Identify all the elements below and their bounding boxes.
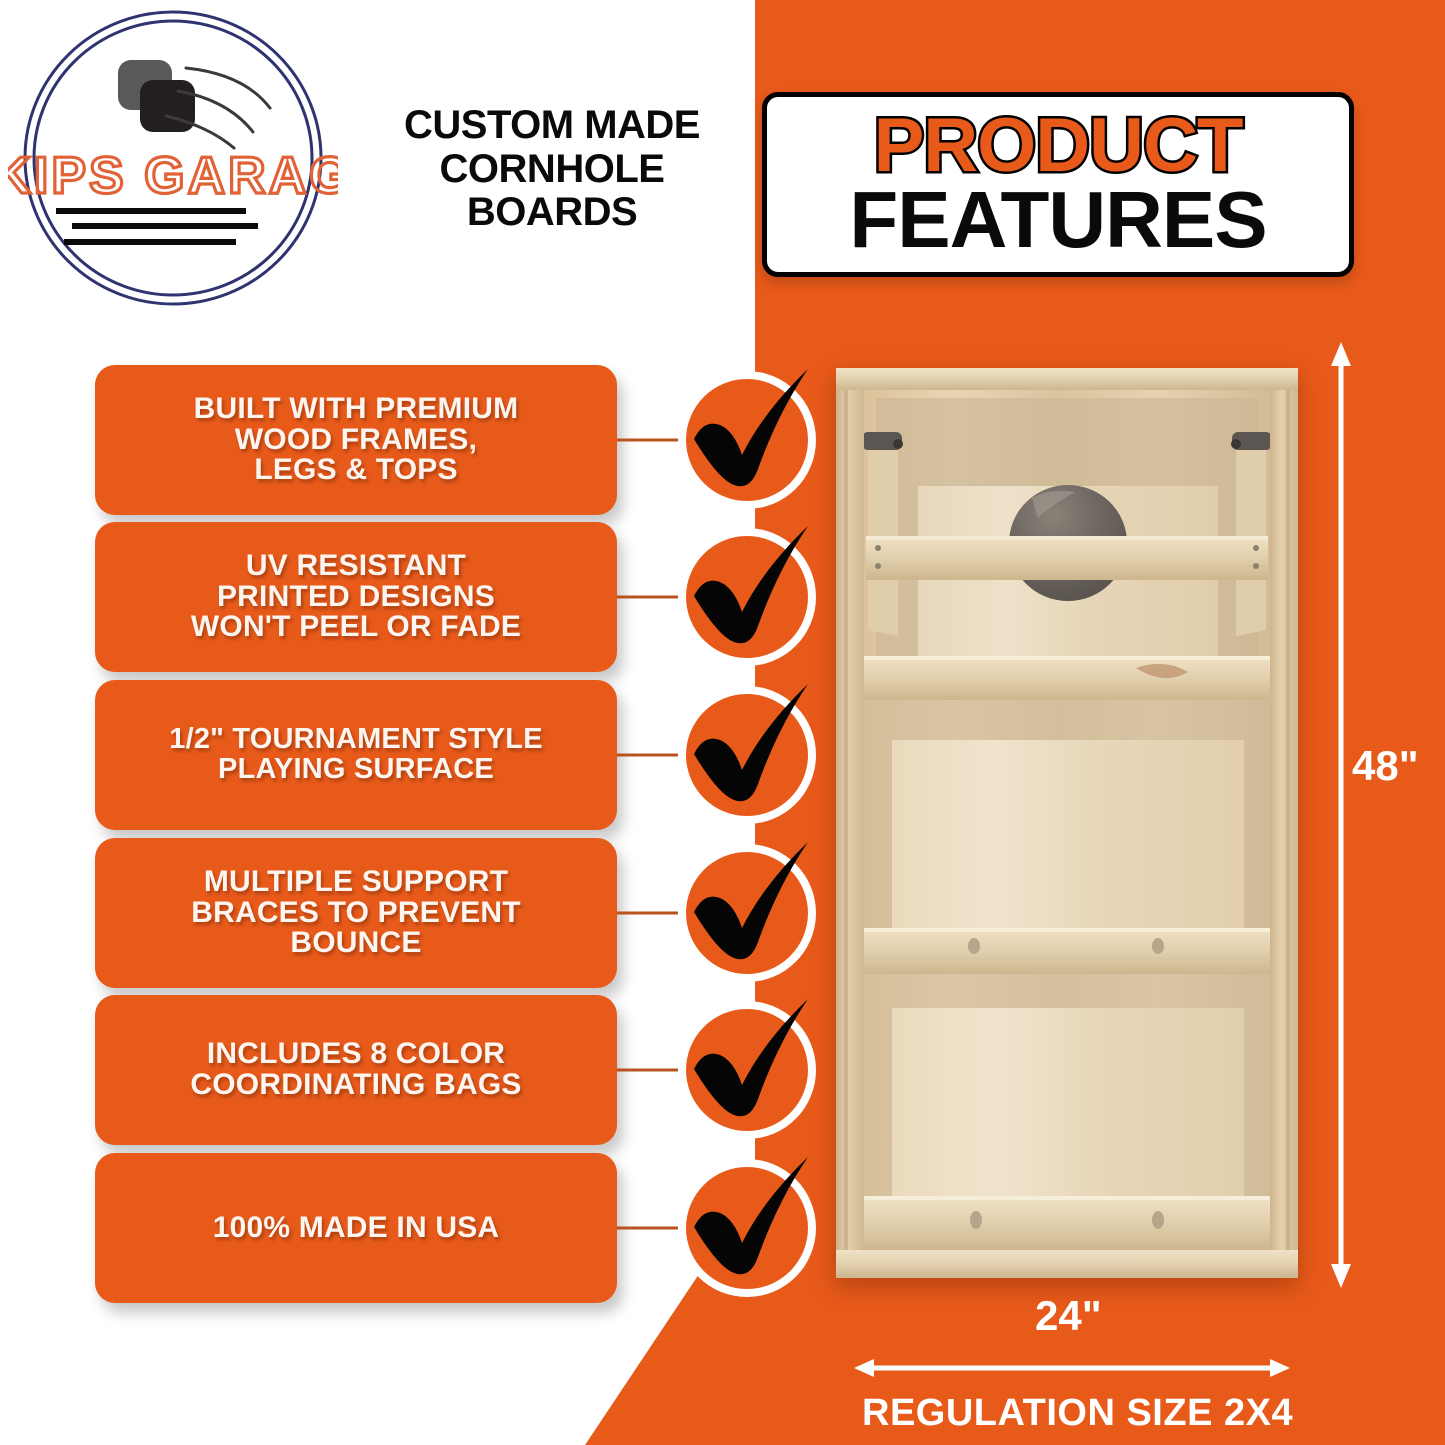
page-title: CUSTOM MADE CORNHOLE BOARDS bbox=[352, 104, 752, 235]
feature-row-uv-resistant: UV RESISTANTPRINTED DESIGNSWON'T PEEL OR… bbox=[0, 522, 830, 672]
feature-pill-made-in-usa[interactable]: 100% MADE IN USA bbox=[95, 1153, 617, 1303]
feature-text-line: WOOD FRAMES, bbox=[194, 425, 519, 456]
feature-text-line: BRACES TO PREVENT bbox=[191, 898, 521, 929]
check-icon bbox=[672, 995, 822, 1145]
feature-pill-uv-resistant[interactable]: UV RESISTANTPRINTED DESIGNSWON'T PEEL OR… bbox=[95, 522, 617, 672]
check-icon bbox=[672, 522, 822, 672]
width-label: 24" bbox=[1035, 1292, 1102, 1340]
feature-text-line: BUILT WITH PREMIUM bbox=[194, 394, 519, 425]
feature-text-line: 100% MADE IN USA bbox=[213, 1213, 500, 1244]
headline-line: CUSTOM MADE bbox=[352, 104, 752, 148]
feature-pill-included-bags[interactable]: INCLUDES 8 COLORCOORDINATING BAGS bbox=[95, 995, 617, 1145]
check-icon bbox=[672, 1153, 822, 1303]
feature-label-included-bags: INCLUDES 8 COLORCOORDINATING BAGS bbox=[190, 1039, 521, 1100]
feature-pill-playing-surface[interactable]: 1/2" TOURNAMENT STYLEPLAYING SURFACE bbox=[95, 680, 617, 830]
feature-text-line: MULTIPLE SUPPORT bbox=[191, 867, 521, 898]
dimension-arrow-width bbox=[852, 1355, 1292, 1381]
product-photo bbox=[836, 368, 1298, 1278]
feature-label-premium-wood: BUILT WITH PREMIUMWOOD FRAMES,LEGS & TOP… bbox=[194, 394, 519, 486]
banner-word-features: FEATURES bbox=[849, 182, 1266, 258]
feature-row-made-in-usa: 100% MADE IN USA bbox=[0, 1153, 830, 1303]
brand-logo: SKIPS GARAGE bbox=[8, 8, 338, 308]
frame-rail-middle bbox=[864, 656, 1270, 700]
headline-line: BOARDS bbox=[352, 191, 752, 235]
support-brace-upper bbox=[866, 536, 1268, 580]
folding-leg-right bbox=[1231, 432, 1272, 636]
product-features-banner: PRODUCT FEATURES bbox=[762, 92, 1354, 277]
height-label: 48" bbox=[1352, 742, 1419, 790]
feature-row-included-bags: INCLUDES 8 COLORCOORDINATING BAGS bbox=[0, 995, 830, 1145]
check-icon bbox=[672, 365, 822, 515]
feature-pill-support-braces[interactable]: MULTIPLE SUPPORTBRACES TO PREVENTBOUNCE bbox=[95, 838, 617, 988]
feature-pill-premium-wood[interactable]: BUILT WITH PREMIUMWOOD FRAMES,LEGS & TOP… bbox=[95, 365, 617, 515]
feature-text-line: INCLUDES 8 COLOR bbox=[190, 1039, 521, 1070]
feature-text-line: COORDINATING BAGS bbox=[190, 1070, 521, 1101]
regulation-size-note: REGULATION SIZE 2X4 bbox=[862, 1392, 1293, 1435]
feature-text-line: 1/2" TOURNAMENT STYLE bbox=[169, 725, 543, 755]
feature-text-line: LEGS & TOPS bbox=[194, 455, 519, 486]
feature-text-line: UV RESISTANT bbox=[191, 551, 521, 582]
feature-row-premium-wood: BUILT WITH PREMIUMWOOD FRAMES,LEGS & TOP… bbox=[0, 365, 830, 515]
feature-text-line: BOUNCE bbox=[191, 928, 521, 959]
check-icon bbox=[672, 838, 822, 988]
folding-leg-left bbox=[862, 432, 903, 636]
feature-text-line: PLAYING SURFACE bbox=[169, 755, 543, 785]
dimension-arrow-height bbox=[1318, 340, 1364, 1290]
feature-row-support-braces: MULTIPLE SUPPORTBRACES TO PREVENTBOUNCE bbox=[0, 838, 830, 988]
frame-rail-bottom bbox=[864, 1196, 1270, 1250]
feature-label-made-in-usa: 100% MADE IN USA bbox=[213, 1213, 500, 1244]
feature-label-uv-resistant: UV RESISTANTPRINTED DESIGNSWON'T PEEL OR… bbox=[191, 551, 521, 643]
headline-line: CORNHOLE bbox=[352, 148, 752, 192]
feature-label-playing-surface: 1/2" TOURNAMENT STYLEPLAYING SURFACE bbox=[169, 725, 543, 784]
logo-underline-bars bbox=[56, 208, 258, 245]
feature-text-line: WON'T PEEL OR FADE bbox=[191, 612, 521, 643]
feature-text-line: PRINTED DESIGNS bbox=[191, 582, 521, 613]
feature-label-support-braces: MULTIPLE SUPPORTBRACES TO PREVENTBOUNCE bbox=[191, 867, 521, 959]
check-icon bbox=[672, 680, 822, 830]
svg-text:SKIPS GARAGE: SKIPS GARAGE bbox=[8, 147, 338, 205]
support-brace-lower bbox=[864, 928, 1270, 974]
feature-row-playing-surface: 1/2" TOURNAMENT STYLEPLAYING SURFACE bbox=[0, 680, 830, 830]
banner-word-product: PRODUCT bbox=[874, 111, 1243, 181]
